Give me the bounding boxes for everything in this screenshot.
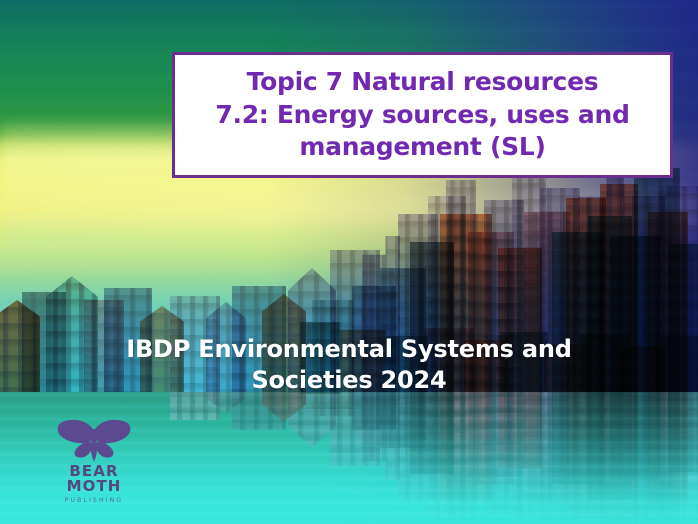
logo-tagline: PUBLISHING [34,497,154,504]
slide-subtitle: IBDP Environmental Systems and Societies… [0,334,698,396]
moth-icon [34,418,154,462]
slide-canvas: Topic 7 Natural resources 7.2: Energy so… [0,0,698,524]
title-box: Topic 7 Natural resources 7.2: Energy so… [172,52,673,178]
slide-title: Topic 7 Natural resources 7.2: Energy so… [205,66,639,164]
bear-moth-logo: BEAR MOTH PUBLISHING [34,418,154,514]
logo-wordmark: BEAR MOTH [34,464,154,495]
